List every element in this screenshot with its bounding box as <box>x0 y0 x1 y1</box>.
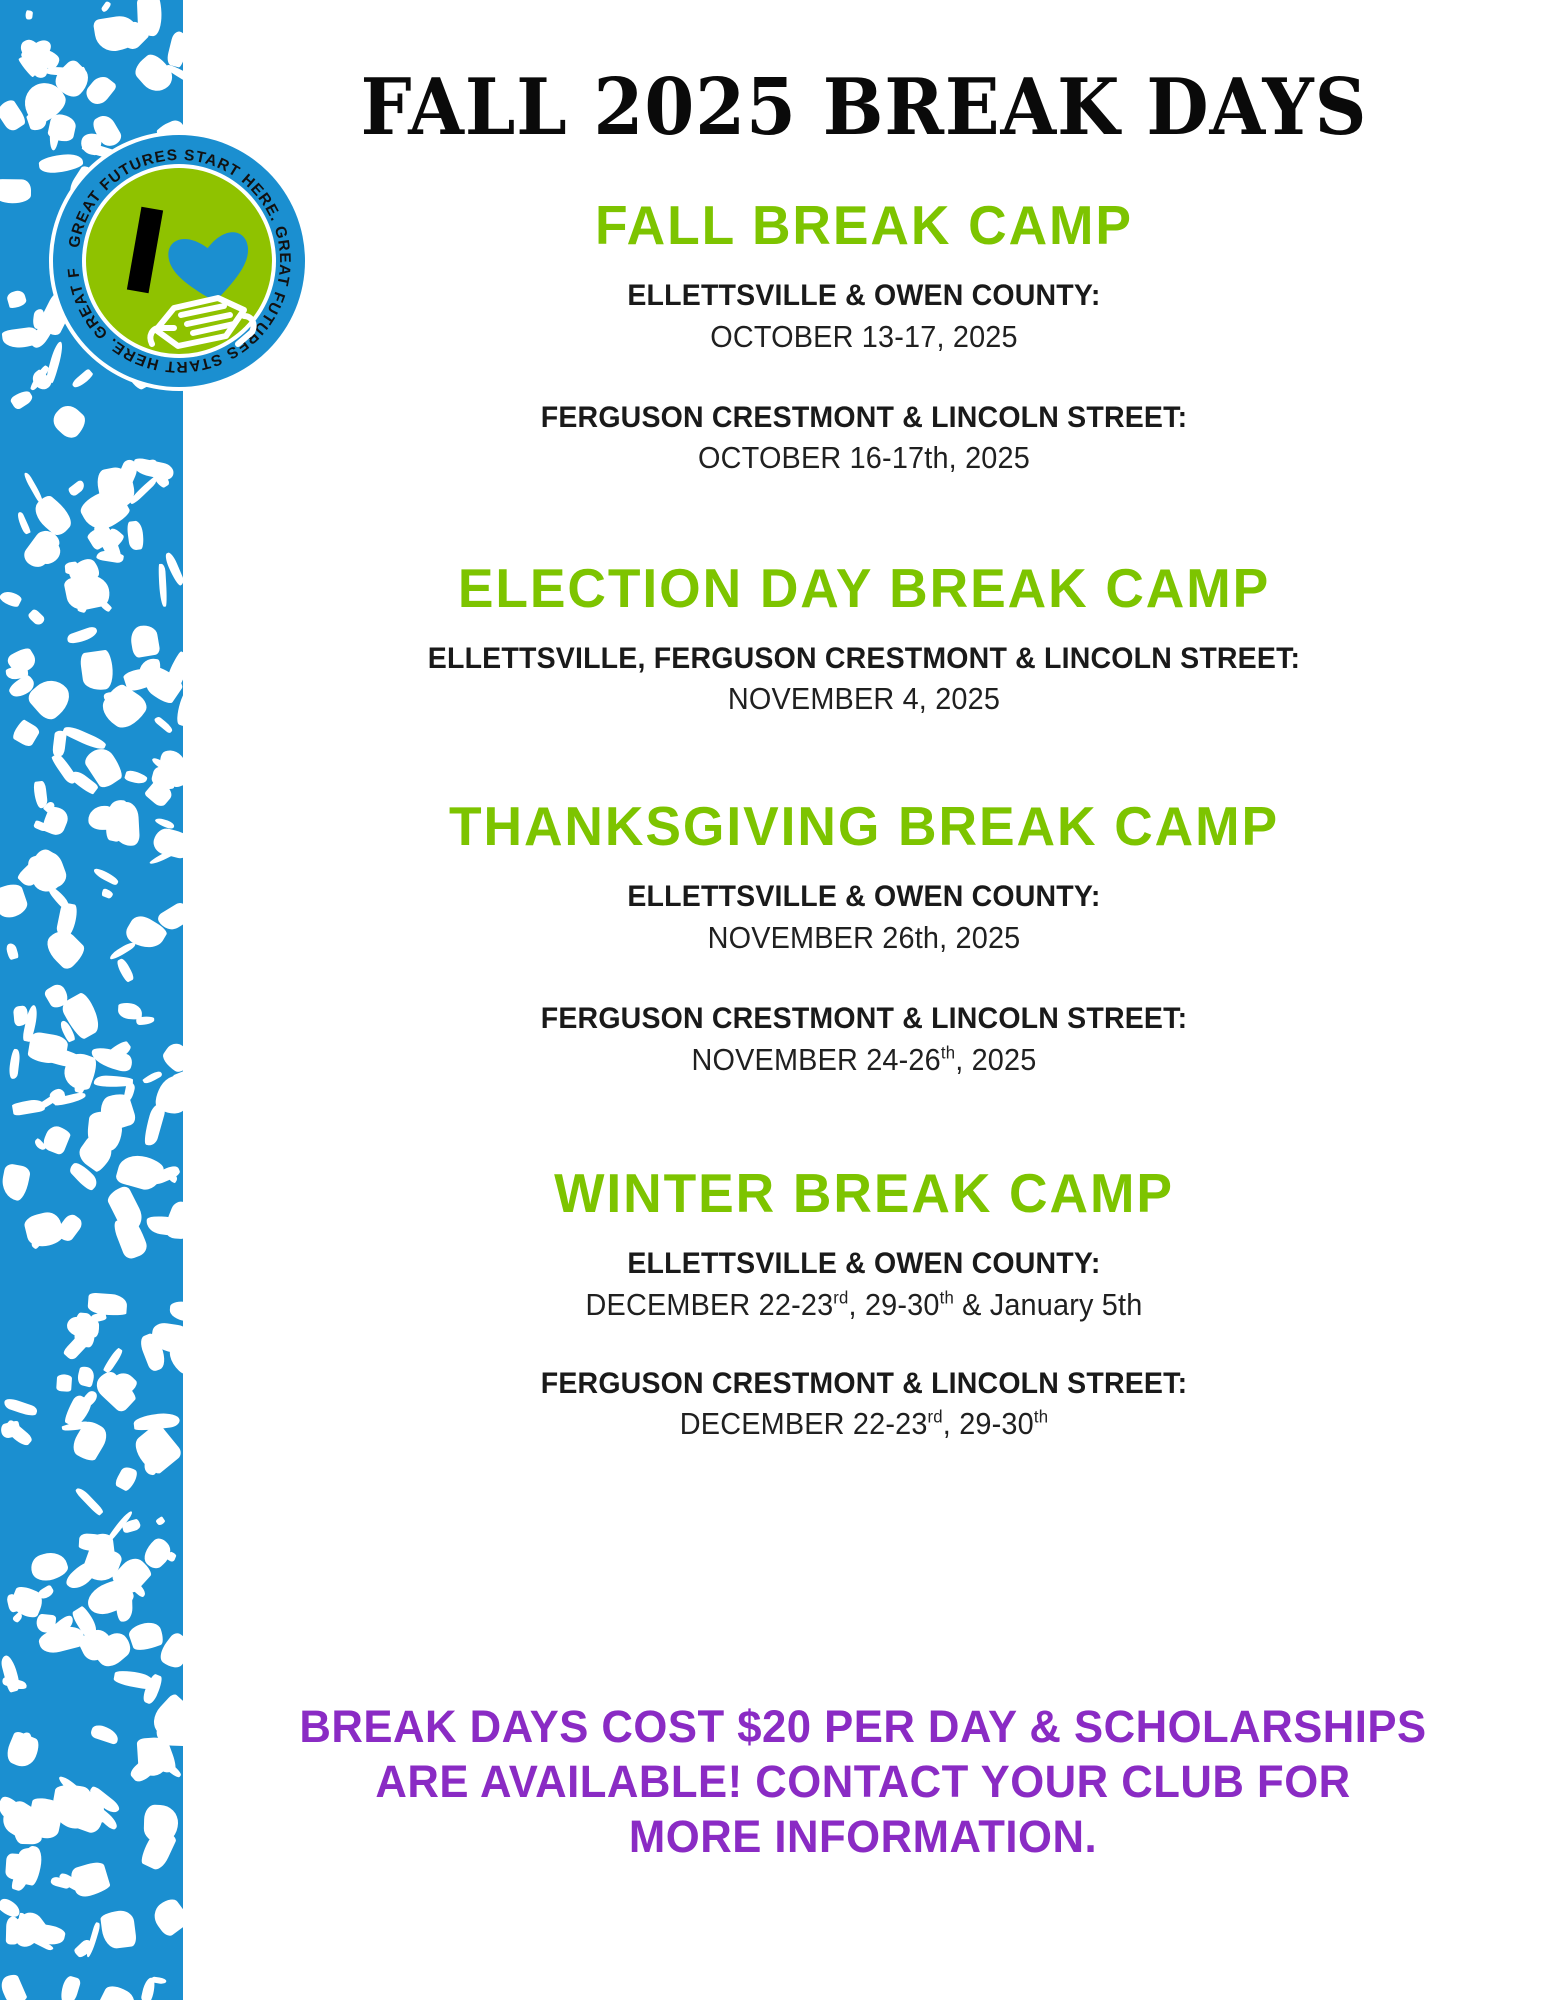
camp-section-heading: WINTER BREAK CAMP <box>203 1166 1524 1221</box>
band-speck <box>102 1347 124 1374</box>
band-speck <box>114 1465 140 1494</box>
band-speck <box>11 1098 45 1116</box>
band-speck <box>0 1654 21 1693</box>
band-speck <box>165 31 183 69</box>
band-speck <box>124 769 148 786</box>
band-speck <box>3 1396 39 1418</box>
camp-section-heading: FALL BREAK CAMP <box>203 198 1524 253</box>
band-speck <box>163 551 183 586</box>
camp-section: THANKSGIVING BREAK CAMPELLETTSVILLE & OW… <box>183 799 1545 1078</box>
camp-entry: FERGUSON CRESTMONT & LINCOLN STREET:OCTO… <box>183 401 1545 477</box>
camp-entry-location: ELLETTSVILLE & OWEN COUNTY: <box>217 279 1511 313</box>
band-speck <box>80 649 117 692</box>
camp-section-heading: ELECTION DAY BREAK CAMP <box>203 561 1524 616</box>
band-speck <box>129 623 161 658</box>
band-speck <box>56 1373 72 1391</box>
camp-entry-date: OCTOBER 16-17th, 2025 <box>231 439 1498 476</box>
band-speck <box>87 1292 127 1316</box>
camp-entry-location: ELLETTSVILLE, FERGUSON CRESTMONT & LINCO… <box>217 642 1511 676</box>
camp-entry: FERGUSON CRESTMONT & LINCOLN STREET:DECE… <box>183 1367 1545 1443</box>
camp-entry: ELLETTSVILLE, FERGUSON CRESTMONT & LINCO… <box>183 642 1545 718</box>
band-speck <box>92 867 120 886</box>
camp-entry-location: ELLETTSVILLE & OWEN COUNTY: <box>217 1247 1511 1281</box>
page-title: FALL 2025 BREAK DAYS <box>237 62 1490 153</box>
band-speck <box>0 588 23 609</box>
camp-entry: ELLETTSVILLE & OWEN COUNTY:OCTOBER 13-17… <box>183 279 1545 355</box>
band-speck <box>8 1049 21 1080</box>
band-speck <box>27 1548 70 1584</box>
camp-entry-date: OCTOBER 13-17, 2025 <box>231 318 1498 355</box>
band-speck <box>76 1365 96 1387</box>
camp-section: ELECTION DAY BREAK CAMPELLETTSVILLE, FER… <box>183 561 1545 718</box>
camp-entry-location: FERGUSON CRESTMONT & LINCOLN STREET: <box>217 1367 1511 1401</box>
band-speck <box>67 479 87 497</box>
band-speck <box>6 289 28 309</box>
camp-section-heading: THANKSGIVING BREAK CAMP <box>203 799 1524 854</box>
band-speck <box>155 1516 165 1526</box>
band-speck <box>40 1123 71 1156</box>
band-speck <box>153 715 174 734</box>
band-speck <box>149 1895 183 1939</box>
band-speck <box>3 1731 42 1771</box>
band-speck <box>127 1619 166 1654</box>
band-speck <box>109 940 138 962</box>
band-speck <box>169 1301 183 1322</box>
band-speck <box>49 400 91 442</box>
camp-entry-date: NOVEMBER 26th, 2025 <box>231 919 1498 956</box>
band-speck <box>117 1002 142 1020</box>
band-speck <box>89 1723 120 1745</box>
camp-entry: ELLETTSVILLE & OWEN COUNTY:DECEMBER 22-2… <box>183 1247 1545 1323</box>
band-speck <box>142 1103 167 1148</box>
band-speck <box>158 564 167 607</box>
band-speck <box>101 887 115 899</box>
cost-and-scholarship-note: BREAK DAYS COST $20 PER DAY & SCHOLARSHI… <box>233 1700 1494 1865</box>
flyer-content: FALL 2025 BREAK DAYS FALL BREAK CAMPELLE… <box>183 0 1545 2000</box>
band-speck <box>101 0 112 13</box>
band-speck <box>114 958 134 984</box>
band-speck <box>66 625 99 646</box>
band-speck <box>64 562 78 575</box>
camp-entry-location: ELLETTSVILLE & OWEN COUNTY: <box>217 880 1511 914</box>
band-speck <box>160 1039 183 1075</box>
camp-entry-date: DECEMBER 22-23rd, 29-30th <box>231 1405 1498 1442</box>
band-speck <box>113 1669 155 1691</box>
camp-entry-date: NOVEMBER 4, 2025 <box>231 680 1498 717</box>
band-speck <box>126 520 145 551</box>
camp-entry-date: NOVEMBER 24-26th, 2025 <box>231 1041 1498 1078</box>
band-speck <box>11 719 41 749</box>
band-speck <box>26 11 33 20</box>
footnote-line-1: BREAK DAYS COST $20 PER DAY & SCHOLARSHI… <box>233 1700 1494 1755</box>
band-speck <box>0 1973 28 2000</box>
camp-entry-location: FERGUSON CRESTMONT & LINCOLN STREET: <box>217 401 1511 435</box>
band-speck <box>111 1213 149 1260</box>
band-speck <box>74 1485 104 1516</box>
band-speck <box>0 881 30 921</box>
boys-and-girls-club-badge-logo: GREAT FUTURES START HERE. GREAT FUTURES … <box>48 130 310 392</box>
camp-entry: FERGUSON CRESTMONT & LINCOLN STREET:NOVE… <box>183 1002 1545 1078</box>
band-speck <box>166 1551 176 1562</box>
camp-section: WINTER BREAK CAMPELLETTSVILLE & OWEN COU… <box>183 1166 1545 1443</box>
camp-section: FALL BREAK CAMPELLETTSVILLE & OWEN COUNT… <box>183 198 1545 477</box>
band-speck <box>99 600 112 612</box>
band-speck <box>4 942 18 960</box>
band-speck <box>165 1199 183 1231</box>
band-speck <box>142 1069 163 1085</box>
footnote-line-2: ARE AVAILABLE! CONTACT YOUR CLUB FOR <box>233 1755 1494 1810</box>
band-speck <box>94 1075 133 1087</box>
band-speck <box>22 1209 65 1250</box>
camp-entry-date: DECEMBER 22-23rd, 29-30th & January 5th <box>231 1286 1498 1323</box>
band-speck <box>134 1412 181 1432</box>
band-speck <box>99 1909 137 1950</box>
camp-sections-list: FALL BREAK CAMPELLETTSVILLE & OWEN COUNT… <box>183 198 1545 1442</box>
band-speck <box>116 1583 133 1622</box>
band-speck <box>90 1312 108 1323</box>
band-speck <box>93 1983 141 2000</box>
band-speck <box>0 1163 32 1202</box>
band-speck <box>16 511 31 534</box>
camp-entry: ELLETTSVILLE & OWEN COUNTY:NOVEMBER 26th… <box>183 880 1545 956</box>
camp-entry-location: FERGUSON CRESTMONT & LINCOLN STREET: <box>217 1002 1511 1036</box>
band-speck <box>22 471 46 506</box>
footnote-line-3: MORE INFORMATION. <box>233 1810 1494 1865</box>
band-speck <box>9 388 34 411</box>
band-speck <box>58 1974 82 2000</box>
band-speck <box>28 608 47 627</box>
